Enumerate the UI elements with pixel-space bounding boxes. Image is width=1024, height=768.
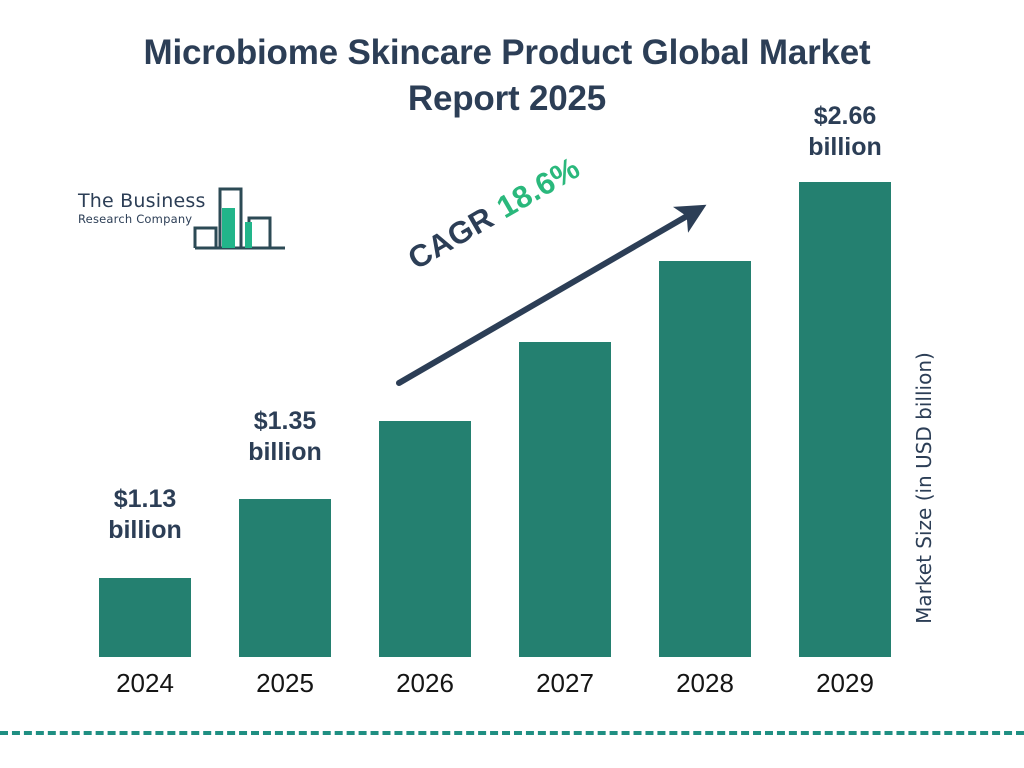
x-tick-2027: 2027 [515,668,615,699]
x-tick-2029: 2029 [795,668,895,699]
chart-canvas: Microbiome Skincare Product Global Marke… [0,0,1024,768]
y-axis-title: Market Size (in USD billion) [912,318,936,658]
x-tick-2026: 2026 [375,668,475,699]
x-tick-2024: 2024 [95,668,195,699]
x-tick-2028: 2028 [655,668,755,699]
growth-arrow [0,0,1024,768]
plot-area: $1.13 billion $1.35 billion $2.66 billio… [0,0,1024,768]
bottom-divider [0,731,1024,735]
x-tick-2025: 2025 [235,668,335,699]
